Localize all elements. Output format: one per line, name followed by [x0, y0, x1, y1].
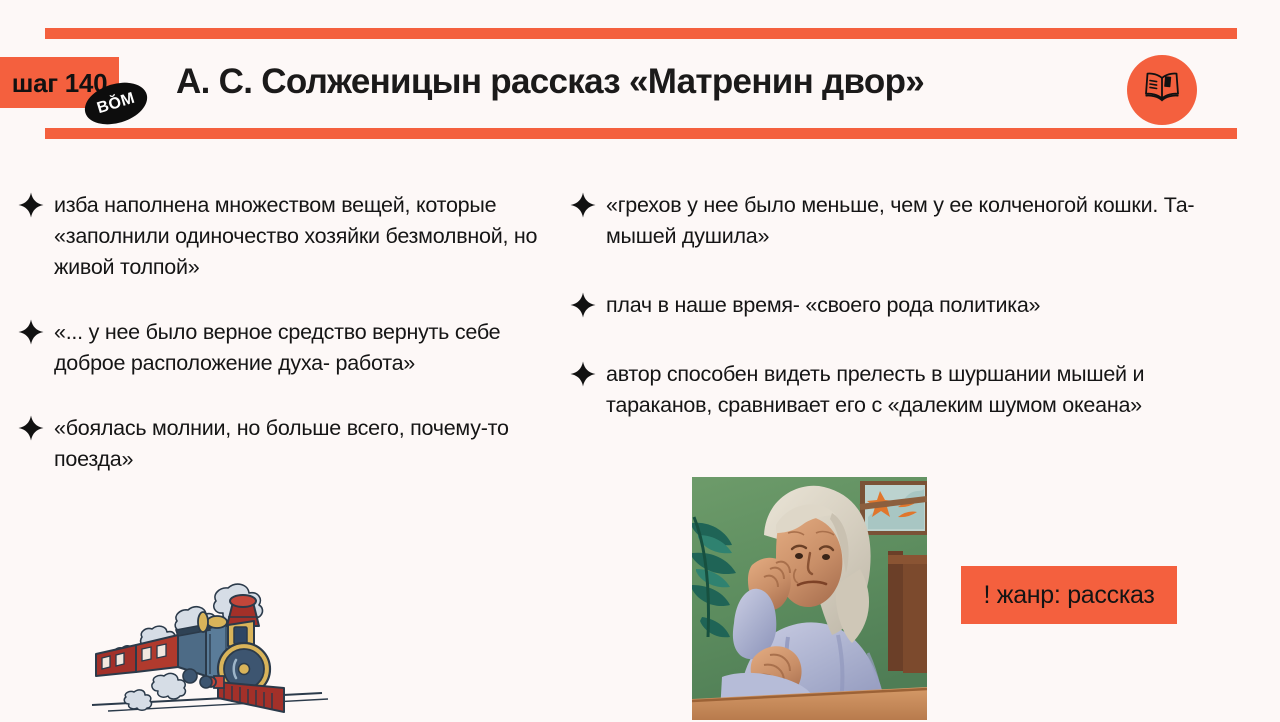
open-book-icon [1142, 69, 1182, 112]
list-item-text: плач в наше время- «своего рода политика… [606, 290, 1195, 321]
bullet-column-left: изба наполнена множеством вещей, которые… [18, 190, 563, 505]
list-item: изба наполнена множеством вещей, которые… [18, 190, 563, 283]
genre-badge-label: ! жанр: рассказ [983, 583, 1154, 608]
list-item-text: «грехов у нее было меньше, чем у ее колч… [606, 190, 1195, 252]
list-item-text: автор способен видеть прелесть в шуршани… [606, 359, 1195, 421]
steam-locomotive-illustration [78, 572, 368, 717]
elderly-woman-in-headscarf-painting [692, 477, 927, 720]
genre-badge: ! жанр: рассказ [961, 566, 1177, 624]
four-point-star-icon [18, 192, 54, 218]
list-item: плач в наше время- «своего рода политика… [570, 290, 1195, 321]
list-item-text: «... у нее было верное средство вернуть … [54, 317, 563, 379]
bullet-column-right: «грехов у нее было меньше, чем у ее колч… [570, 190, 1195, 451]
list-item-text: «боялась молнии, но больше всего, почему… [54, 413, 563, 475]
list-item: «боялась молнии, но больше всего, почему… [18, 413, 563, 475]
four-point-star-icon [18, 415, 54, 441]
list-item: «... у нее было верное средство вернуть … [18, 317, 563, 379]
list-item: «грехов у нее было меньше, чем у ее колч… [570, 190, 1195, 252]
page-title: А. С. Солженицын рассказ «Матренин двор» [176, 60, 1096, 104]
book-badge [1127, 55, 1197, 125]
list-item: автор способен видеть прелесть в шуршани… [570, 359, 1195, 421]
four-point-star-icon [570, 192, 606, 218]
four-point-star-icon [18, 319, 54, 345]
step-badge-label: шаг 140 [12, 70, 107, 96]
vom-logo-label: ВŎМ [95, 90, 137, 117]
header-rule-bottom [45, 128, 1237, 139]
header-rule-top [45, 28, 1237, 39]
slide-header: шаг 140 ВŎМ А. С. Солженицын рассказ «Ма… [0, 0, 1280, 160]
four-point-star-icon [570, 361, 606, 387]
list-item-text: изба наполнена множеством вещей, которые… [54, 190, 563, 283]
four-point-star-icon [570, 292, 606, 318]
